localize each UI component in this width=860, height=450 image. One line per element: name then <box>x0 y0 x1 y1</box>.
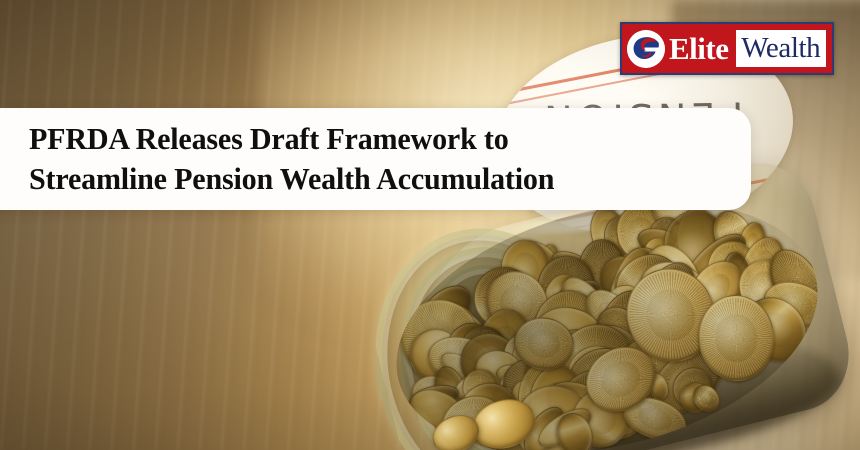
promo-banner: PENSION PFRDA Releases Draft Framework t… <box>0 0 860 450</box>
headline-line-1: PFRDA Releases Draft Framework to <box>29 119 729 159</box>
logo-primary-text: Elite <box>669 33 729 64</box>
headline-line-2: Streamline Pension Wealth Accumulation <box>29 159 729 199</box>
logo-secondary-box: Wealth <box>734 28 829 69</box>
logo-secondary-text: Wealth <box>741 34 820 63</box>
elite-wealth-logo[interactable]: Elite Wealth <box>620 22 834 75</box>
elite-e-swirl-icon <box>627 30 665 68</box>
headline-banner: PFRDA Releases Draft Framework to Stream… <box>0 108 751 210</box>
